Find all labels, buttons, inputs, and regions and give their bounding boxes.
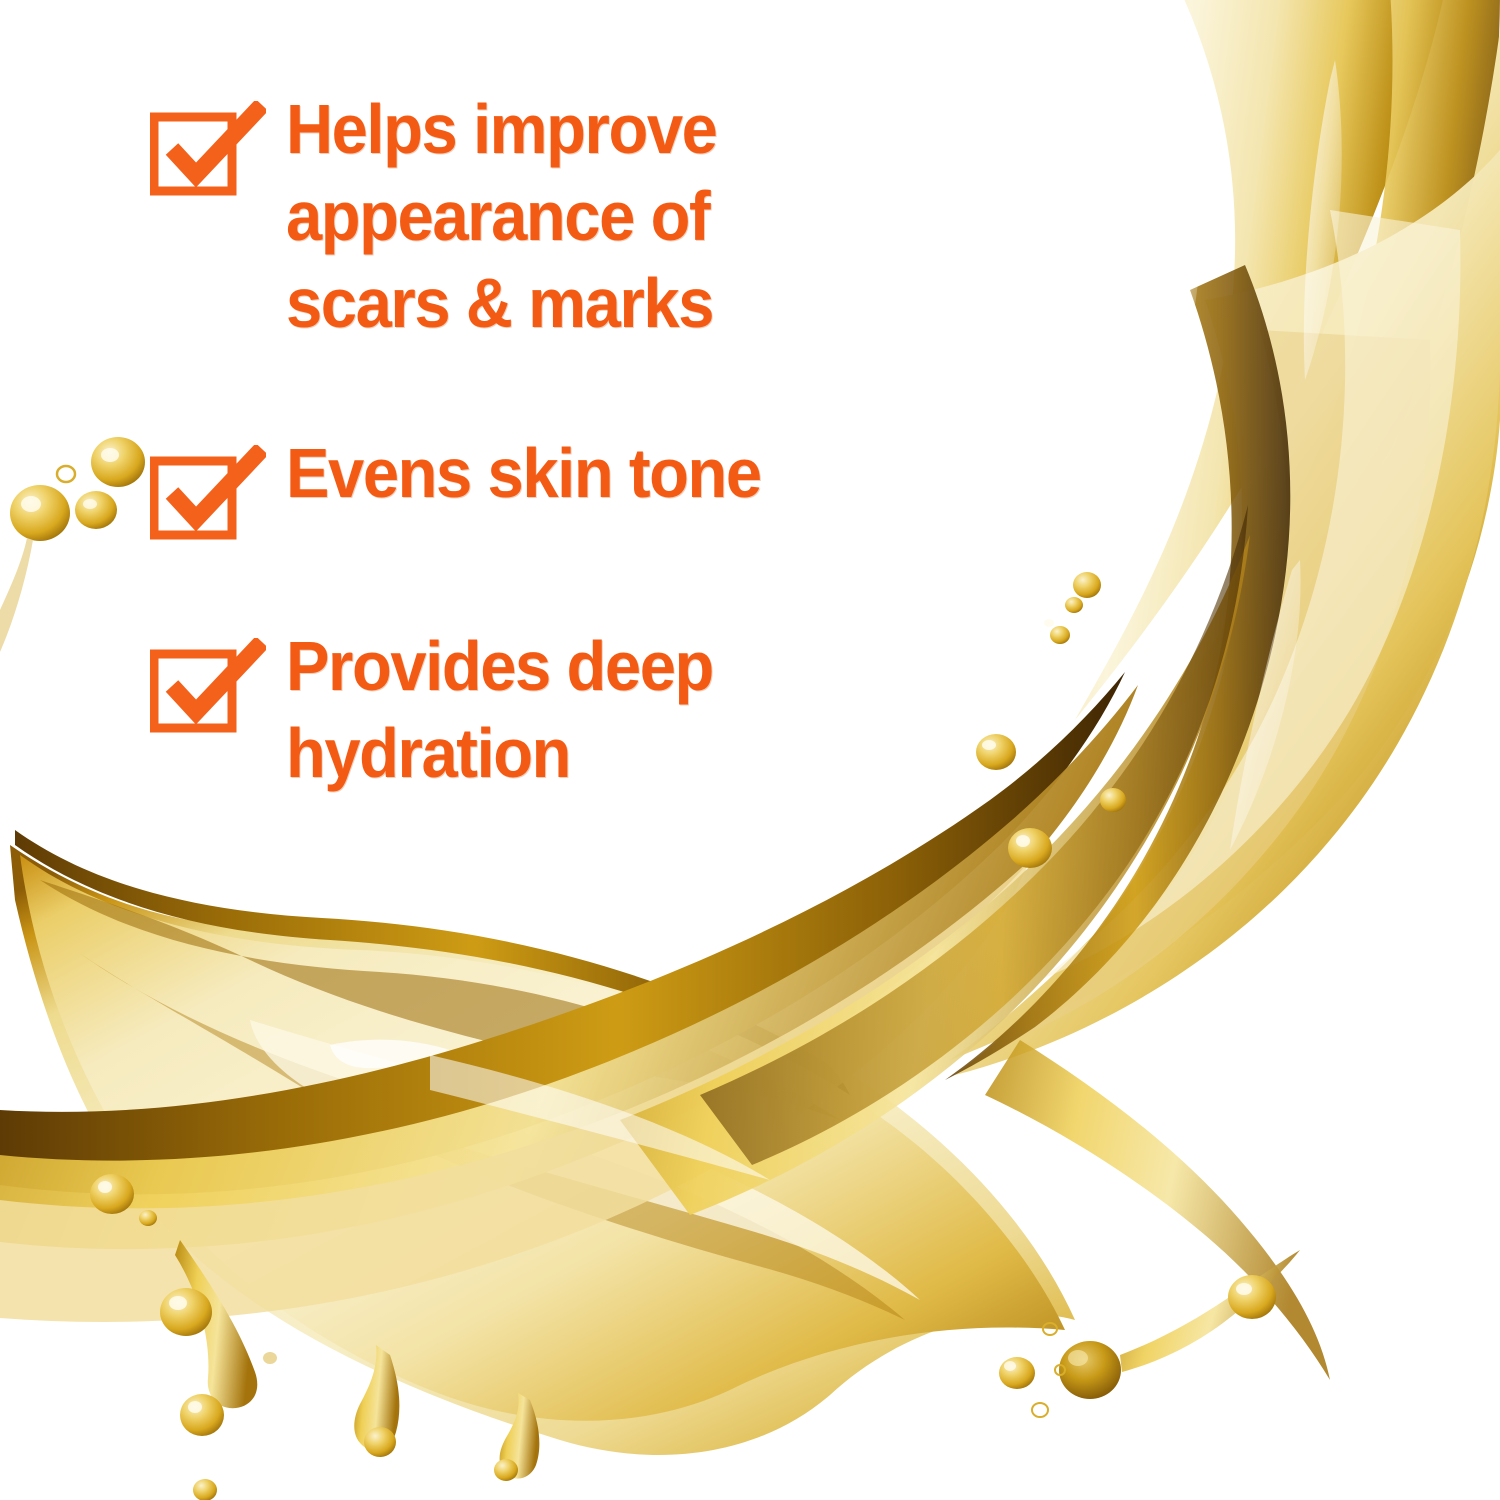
oil-specular-2 <box>1304 60 1342 380</box>
benefit-label: Evens skin tone <box>286 430 761 517</box>
benefit-label: Provides deep hydration <box>286 623 713 797</box>
oil-left-sheet-highlight-1 <box>250 1020 920 1300</box>
oil-left-sheet-shade-1 <box>40 880 840 1120</box>
oil-droplets-top-left <box>0 437 145 652</box>
benefit-item-improve-scars-marks: Helps improve appearance of scars & mark… <box>150 92 1030 347</box>
oil-left-sheet-main <box>20 855 1065 1421</box>
oil-right-wing-shade-2 <box>1040 210 1460 980</box>
oil-column-upper-right-2 <box>1150 0 1500 730</box>
benefits-checklist: Helps improve appearance of scars & mark… <box>150 92 1030 797</box>
checkbox-checked-icon <box>150 101 266 197</box>
oil-specular-3 <box>1230 560 1301 850</box>
oil-specular-4 <box>430 1055 770 1180</box>
oil-drip-edge-2 <box>354 1345 399 1451</box>
oil-drip-edge-3 <box>500 1393 540 1479</box>
oil-ribbon-light-cross <box>0 860 1030 1322</box>
oil-droplet-trail <box>1120 1250 1300 1372</box>
oil-droplets-bottom-right <box>999 1250 1300 1417</box>
benefit-item-evens-skin-tone: Evens skin tone <box>150 436 1030 541</box>
oil-right-wing <box>950 30 1500 1060</box>
oil-specular-1 <box>1165 120 1200 385</box>
oil-right-wing-body <box>955 150 1500 1075</box>
oil-left-sheet-top-edge <box>15 830 850 1095</box>
benefit-item-deep-hydration: Provides deep hydration <box>150 629 1030 797</box>
oil-left-sheet <box>10 845 1075 1455</box>
oil-droplets-bottom-left <box>90 1174 518 1500</box>
oil-drip-edge <box>175 1240 257 1408</box>
oil-right-wing-shade-1 <box>1000 330 1430 1045</box>
oil-left-sheet-highlight-2 <box>330 1040 510 1082</box>
product-benefits-graphic: Helps improve appearance of scars & mark… <box>0 0 1500 1500</box>
oil-left-sheet-shade-2 <box>75 950 905 1320</box>
checkbox-checked-icon <box>150 445 266 541</box>
oil-column-upper-right <box>1075 0 1445 720</box>
oil-droplets-mid-right <box>1044 572 1101 644</box>
checkbox-checked-icon <box>150 638 266 734</box>
oil-tail-bottom-right <box>985 1040 1330 1380</box>
benefit-label: Helps improve appearance of scars & mark… <box>286 86 716 347</box>
